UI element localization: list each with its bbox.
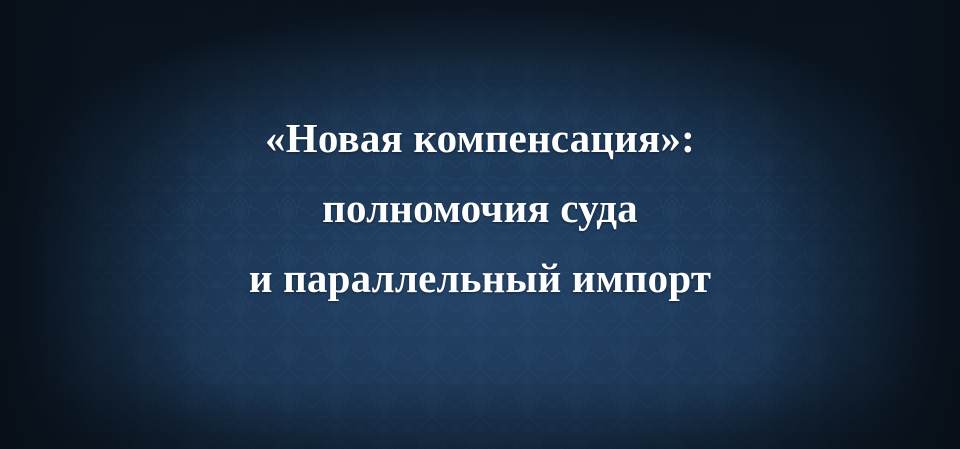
title-line-3: и параллельный импорт bbox=[0, 243, 960, 313]
title-text-block: «Новая компенсация»: полномочия суда и п… bbox=[0, 103, 960, 313]
title-line-1: «Новая компенсация»: bbox=[0, 103, 960, 173]
title-banner: «Новая компенсация»: полномочия суда и п… bbox=[0, 0, 960, 449]
title-line-2: полномочия суда bbox=[0, 173, 960, 243]
